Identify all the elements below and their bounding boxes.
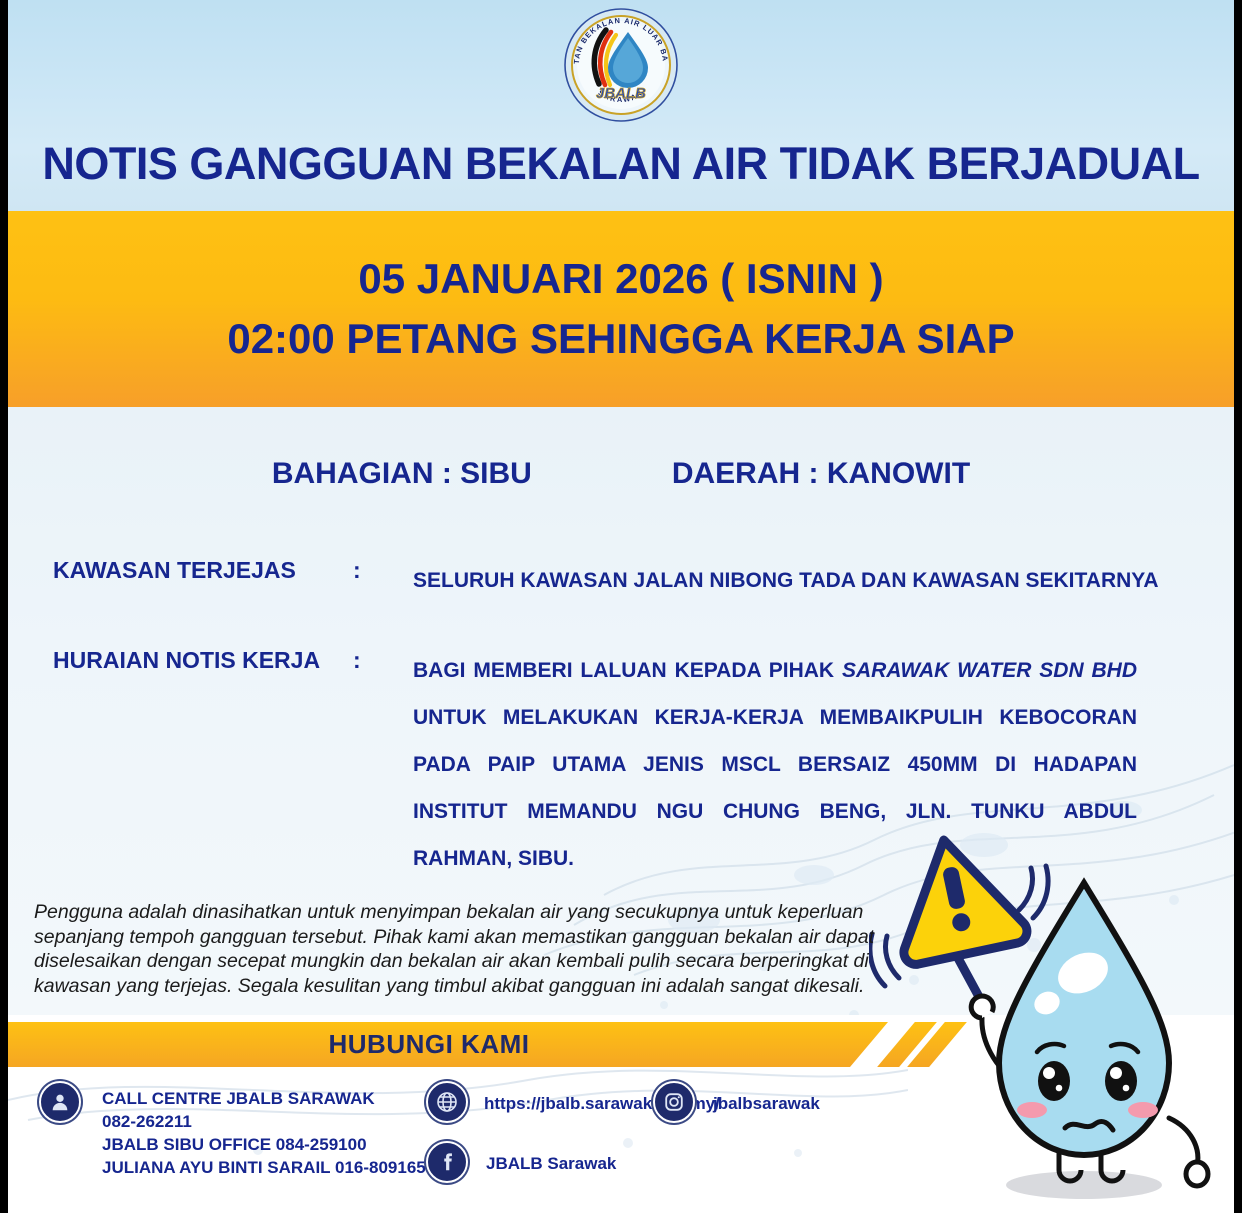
header-banner: JABATAN BEKALAN AIR LUAR BANDAR SARAWAK … (8, 0, 1234, 211)
jbalb-logo: JABATAN BEKALAN AIR LUAR BANDAR SARAWAK … (562, 6, 680, 124)
instagram-handle[interactable]: jbalbsarawak (713, 1092, 820, 1115)
facebook-handle[interactable]: JBALB Sarawak (486, 1152, 616, 1175)
field-value-affected-area: SELURUH KAWASAN JALAN NIBONG TADA DAN KA… (413, 557, 1194, 604)
field-value-work-description: BAGI MEMBERI LALUAN KEPADA PIHAK SARAWAK… (413, 647, 1137, 882)
district-label: DAERAH : KANOWIT (672, 457, 970, 491)
instagram-icon[interactable] (653, 1081, 695, 1123)
desc-part-1: BAGI MEMBERI LALUAN KEPADA PIHAK (413, 659, 842, 682)
field-affected-area: KAWASAN TERJEJAS : SELURUH KAWASAN JALAN… (53, 557, 1194, 604)
facebook-icon[interactable] (426, 1141, 468, 1183)
notice-date: 05 JANUARI 2026 ( ISNIN ) (358, 255, 883, 303)
division-label: BAHAGIAN : SIBU (272, 457, 532, 491)
svg-text:JBALB: JBALB (596, 85, 646, 102)
person-icon (39, 1081, 81, 1123)
desc-company-name: SARAWAK WATER SDN BHD (842, 659, 1137, 682)
page-title: NOTIS GANGGUAN BEKALAN AIR TIDAK BERJADU… (8, 138, 1234, 190)
advisory-paragraph: Pengguna adalah dinasihatkan untuk menyi… (34, 900, 884, 998)
globe-icon[interactable] (426, 1081, 468, 1123)
contact-heading: HUBUNGI KAMI (8, 1022, 850, 1067)
notice-poster: JABATAN BEKALAN AIR LUAR BANDAR SARAWAK … (8, 0, 1234, 1213)
contact-section: HUBUNGI KAMI CALL CENTRE JBALB SARAWAK 0… (8, 1015, 1234, 1213)
field-colon: : (353, 557, 413, 584)
phone-contact-text: CALL CENTRE JBALB SARAWAK 082-262211 JBA… (102, 1087, 435, 1179)
desc-part-2: UNTUK MELAKUKAN KERJA-KERJA MEMBAIKPULIH… (413, 706, 1137, 870)
field-label-affected-area: KAWASAN TERJEJAS (53, 557, 353, 584)
notice-time: 02:00 PETANG SEHINGGA KERJA SIAP (227, 315, 1014, 363)
date-band: 05 JANUARI 2026 ( ISNIN ) 02:00 PETANG S… (8, 211, 1234, 407)
field-colon: : (353, 647, 413, 674)
field-label-work-description: HURAIAN NOTIS KERJA (53, 647, 353, 674)
location-row: BAHAGIAN : SIBU DAERAH : KANOWIT (8, 457, 1234, 491)
field-work-description: HURAIAN NOTIS KERJA : BAGI MEMBERI LALUA… (53, 647, 1194, 882)
